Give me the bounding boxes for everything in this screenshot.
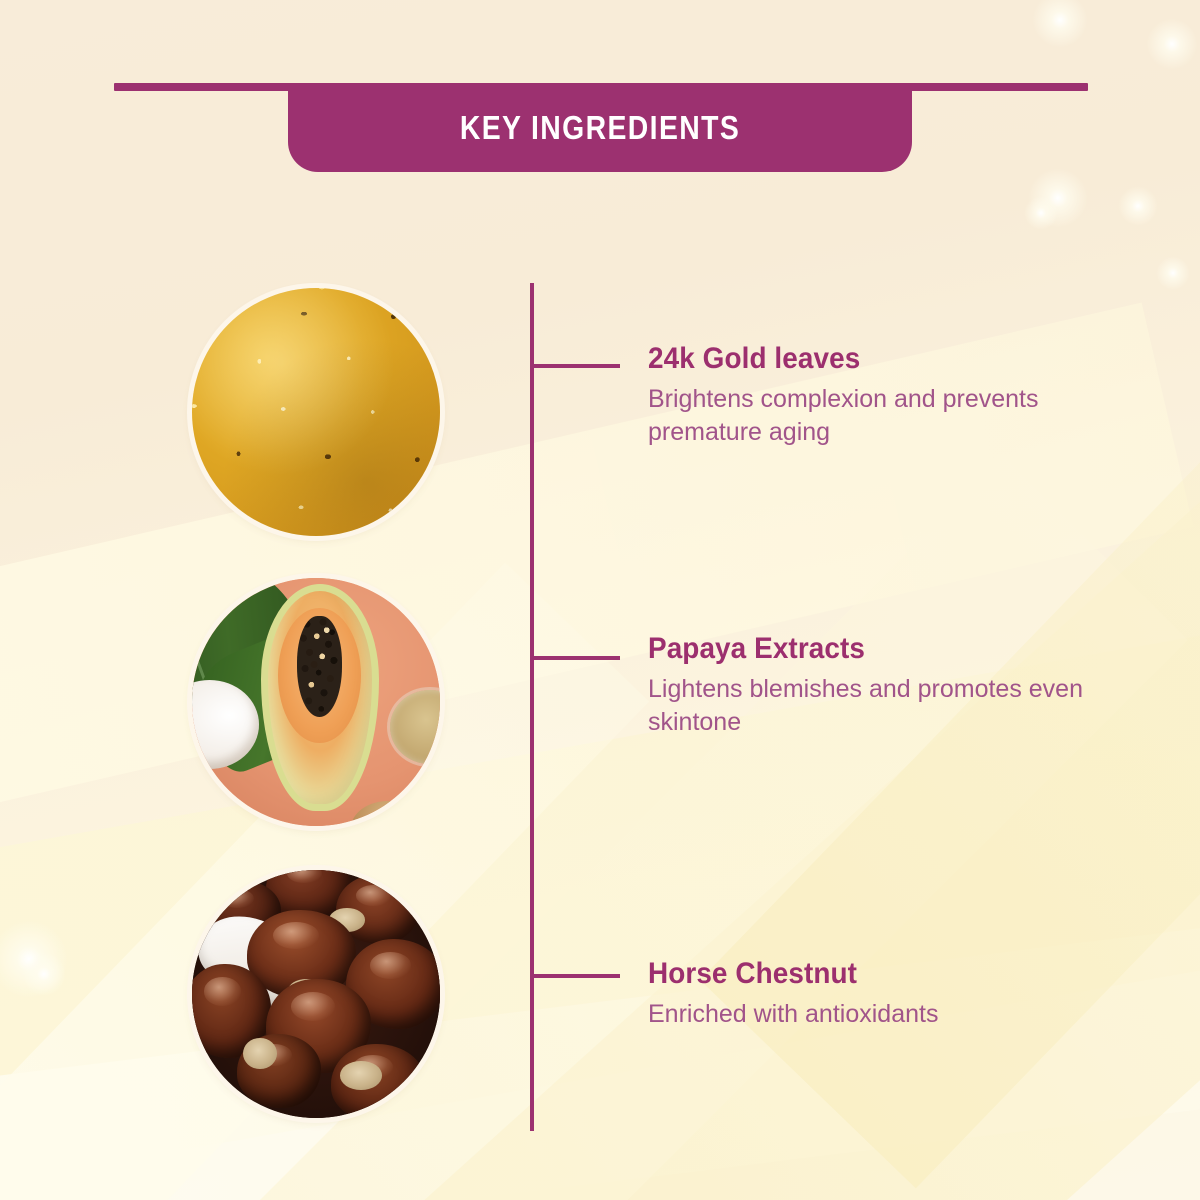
ingredient-text-block: Horse Chestnut Enriched with antioxidant… xyxy=(648,958,1118,1031)
chestnut-highlight xyxy=(204,977,241,1005)
chestnut-highlight xyxy=(356,885,391,906)
ingredient-description: Enriched with antioxidants xyxy=(648,998,1118,1031)
ingredient-text-block: 24k Gold leaves Brightens complexion and… xyxy=(648,343,1118,449)
sparkle-icon xyxy=(1156,256,1190,290)
ingredient-description: Lightens blemishes and promotes even ski… xyxy=(648,673,1118,739)
ingredient-description: Brightens complexion and prevents premat… xyxy=(648,383,1118,449)
sparkle-icon xyxy=(1146,18,1198,70)
ingredient-text-block: Papaya Extracts Lightens blemishes and p… xyxy=(648,633,1118,739)
key-ingredients-panel: KEY INGREDIENTS 24k Gold leaves Brighten… xyxy=(0,0,1200,1200)
horse-chestnut-photo xyxy=(192,870,440,1118)
sparkle-icon xyxy=(1024,196,1058,230)
chestnut-highlight xyxy=(273,922,319,949)
gold-leaves-photo xyxy=(192,288,440,536)
papaya-half xyxy=(264,588,376,806)
chestnut xyxy=(237,1034,321,1108)
ingredient-title: Papaya Extracts xyxy=(648,633,1085,665)
connector-branch xyxy=(530,656,620,660)
ingredient-title: 24k Gold leaves xyxy=(648,343,1085,375)
page-title: KEY INGREDIENTS xyxy=(460,109,740,147)
chestnut-highlight xyxy=(291,992,335,1020)
chestnut-highlight xyxy=(370,952,412,979)
sparkle-icon xyxy=(1032,0,1088,48)
chestnut-scene xyxy=(192,870,440,1118)
sparkle-icon xyxy=(22,952,66,996)
gold-shading xyxy=(192,288,440,536)
chestnut-scar xyxy=(340,1061,381,1090)
papaya-seeds xyxy=(297,616,342,716)
sparkle-icon xyxy=(1028,168,1088,228)
chestnut-highlight xyxy=(287,870,322,883)
connector-spine xyxy=(530,283,534,1131)
background-diagonal-band xyxy=(380,337,1200,1200)
connector-branch xyxy=(530,364,620,368)
chestnut-highlight xyxy=(221,889,254,908)
papaya-scene xyxy=(192,578,440,826)
sparkle-icon xyxy=(1118,186,1158,226)
chestnut xyxy=(331,1044,425,1118)
connector-branch xyxy=(530,974,620,978)
papaya-photo xyxy=(192,578,440,826)
ingredient-title: Horse Chestnut xyxy=(648,958,1085,990)
header-banner: KEY INGREDIENTS xyxy=(288,83,912,172)
gold-flake-texture xyxy=(192,288,440,536)
background-diagonal-band xyxy=(0,905,1200,1200)
sparkle-icon xyxy=(0,920,68,998)
